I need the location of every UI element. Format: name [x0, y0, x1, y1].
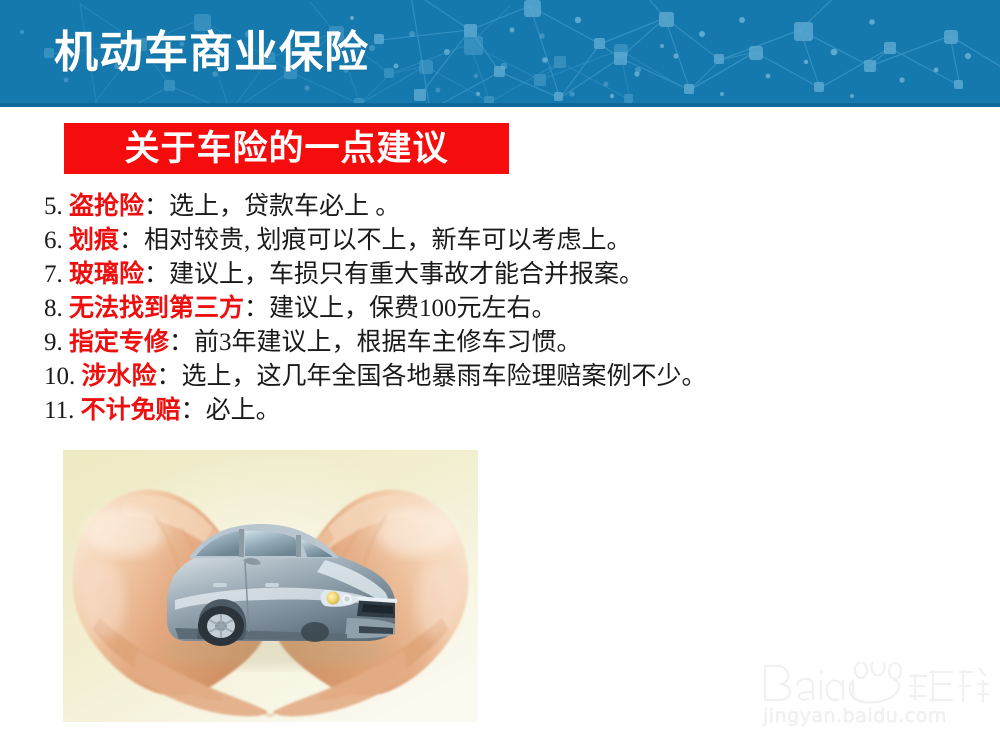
list-item-description: 建议上，车损只有重大事故才能合并报案。: [169, 261, 644, 288]
list-item-number: 11.: [44, 397, 74, 424]
list-item-term: 盗抢险: [69, 193, 144, 220]
page-title: 机动车商业保险: [54, 25, 369, 81]
list-item-term: 不计免赔: [81, 397, 181, 424]
list-item-separator: ：: [119, 227, 144, 254]
list-item-description: 建议上，保费100元左右。: [269, 295, 557, 322]
list-item-separator: ：: [244, 295, 269, 322]
list-item: 5. 盗抢险：选上，贷款车必上 。: [44, 190, 974, 224]
list-item-term: 划痕: [69, 227, 119, 254]
hands-heart-car-illustration: [63, 450, 478, 722]
list-item-term: 无法找到第三方: [69, 295, 244, 322]
list-item-description: 选上，这几年全国各地暴雨车险理赔案例不少。: [182, 363, 707, 390]
list-item-term: 玻璃险: [69, 261, 144, 288]
list-item-separator: ：: [157, 363, 182, 390]
baidu-paw-logo-icon: [757, 662, 989, 706]
list-item-description: 必上。: [206, 397, 281, 424]
list-item-separator: ：: [169, 329, 194, 356]
list-item-description: 选上，贷款车必上 。: [169, 193, 400, 220]
section-banner: 关于车险的一点建议: [64, 123, 509, 174]
header-underline: [0, 103, 1000, 107]
list-item-number: 10.: [44, 363, 75, 390]
advice-list: 5. 盗抢险：选上，贷款车必上 。 6. 划痕：相对较贵, 划痕可以不上，新车可…: [44, 190, 974, 428]
list-item: 7. 玻璃险：建议上，车损只有重大事故才能合并报案。: [44, 258, 974, 292]
list-item: 11. 不计免赔：必上。: [44, 394, 974, 428]
list-item-term: 涉水险: [82, 363, 157, 390]
list-item-number: 7.: [44, 261, 63, 288]
hands-heart-car-photo: [63, 450, 478, 722]
list-item-number: 9.: [44, 329, 63, 356]
list-item-number: 6.: [44, 227, 63, 254]
list-item-number: 8.: [44, 295, 63, 322]
list-item-separator: ：: [144, 261, 169, 288]
list-item-description: 相对较贵, 划痕可以不上，新车可以考虑上。: [144, 227, 632, 254]
list-item: 6. 划痕：相对较贵, 划痕可以不上，新车可以考虑上。: [44, 224, 974, 258]
watermark-url: jingyan.baidu.com: [763, 704, 947, 728]
baidu-watermark: jingyan.baidu.com: [757, 662, 989, 734]
list-item-separator: ：: [181, 397, 206, 424]
list-item: 9. 指定专修：前3年建议上，根据车主修车习惯。: [44, 326, 974, 360]
slide-root: 机动车商业保险 关于车险的一点建议 5. 盗抢险：选上，贷款车必上 。 6. 划…: [0, 0, 1000, 750]
list-item: 10. 涉水险：选上，这几年全国各地暴雨车险理赔案例不少。: [44, 360, 974, 394]
list-item: 8. 无法找到第三方：建议上，保费100元左右。: [44, 292, 974, 326]
list-item-number: 5.: [44, 193, 63, 220]
list-item-description: 前3年建议上，根据车主修车习惯。: [194, 329, 582, 356]
list-item-separator: ：: [144, 193, 169, 220]
section-banner-label: 关于车险的一点建议: [124, 129, 448, 169]
list-item-term: 指定专修: [69, 329, 169, 356]
header-band: 机动车商业保险: [0, 0, 1000, 103]
